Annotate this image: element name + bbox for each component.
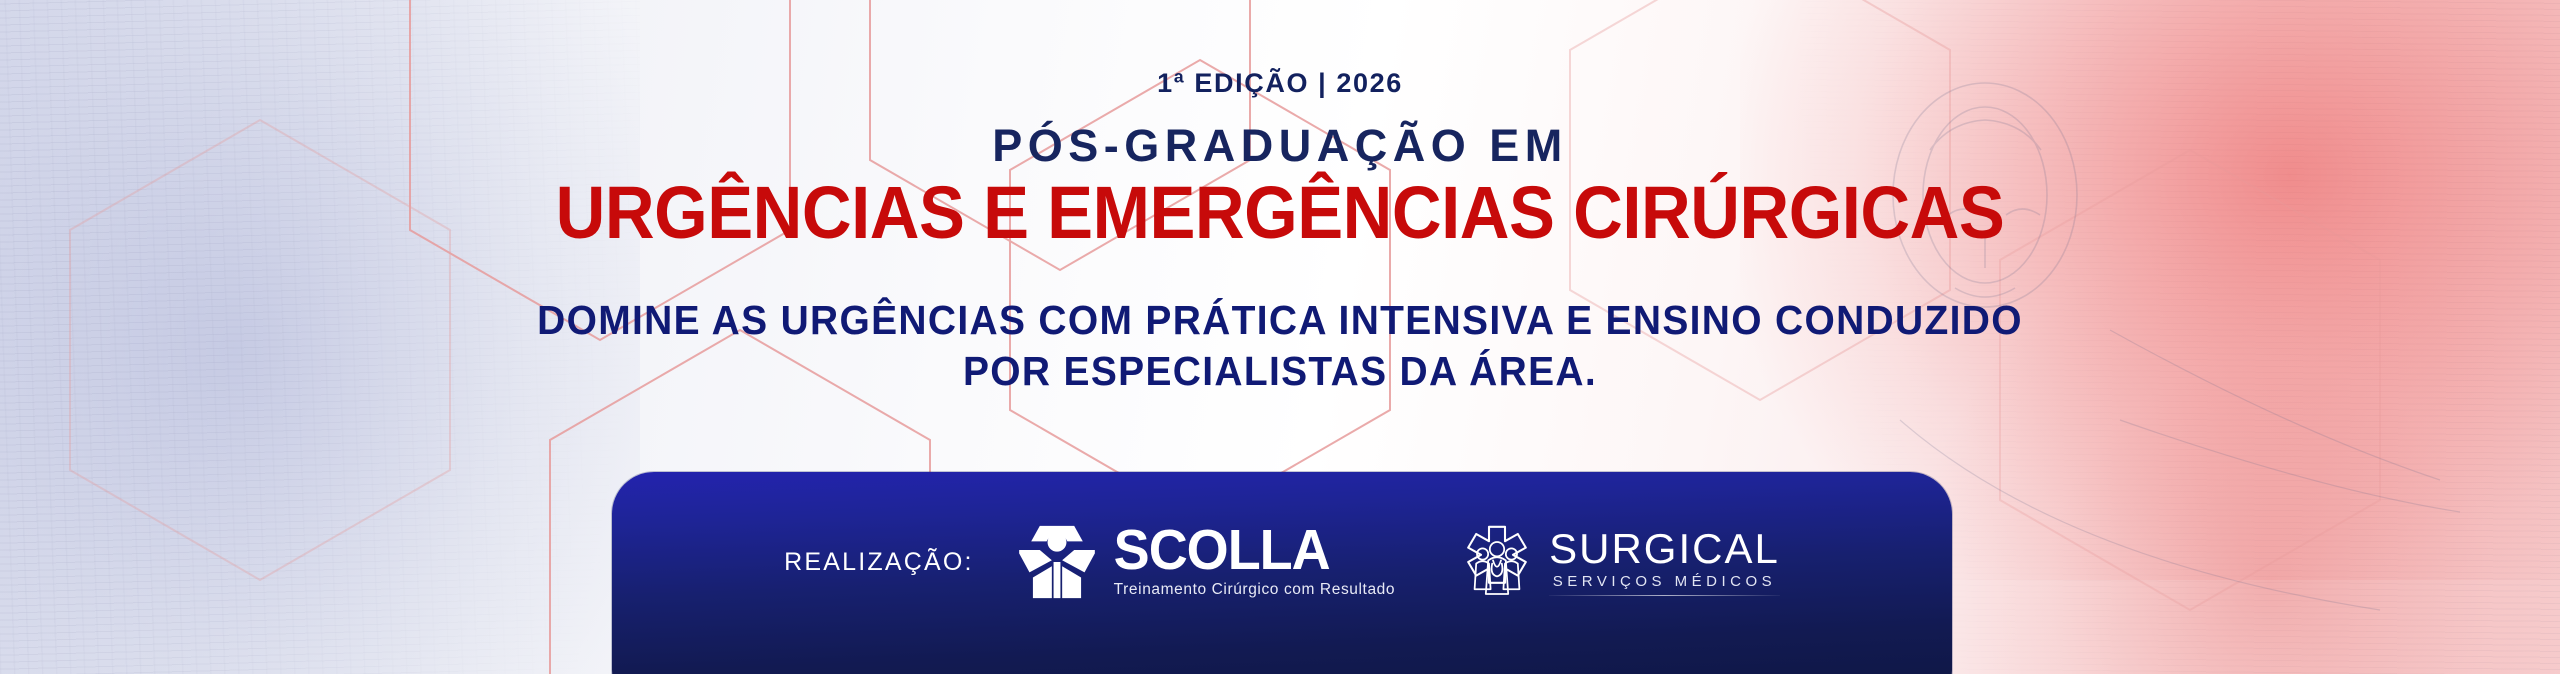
scolla-wordmark: SCOLLA	[1114, 524, 1330, 578]
subtitle-line-2: POR ESPECIALISTAS DA ÁREA.	[64, 346, 2496, 397]
sponsors-row: REALIZAÇÃO: SCOLLA Treina	[612, 514, 1952, 610]
scolla-logo[interactable]: SCOLLA Treinamento Cirúrgico com Resulta…	[1014, 519, 1395, 605]
realizacao-label: REALIZAÇÃO:	[784, 548, 974, 577]
surgical-underline-rule	[1549, 595, 1780, 596]
surgical-wordblock: SURGICAL SERVIÇOS MÉDICOS	[1549, 528, 1780, 596]
surgical-wordmark: SURGICAL	[1549, 528, 1780, 570]
scolla-tagline: Treinamento Cirúrgico com Resultado	[1114, 581, 1395, 599]
program-headline: URGÊNCIAS E EMERGÊNCIAS CIRÚRGICAS	[90, 170, 2471, 255]
surgical-logo[interactable]: SURGICAL SERVIÇOS MÉDICOS	[1457, 522, 1780, 602]
surgical-tagline: SERVIÇOS MÉDICOS	[1553, 573, 1776, 590]
star-of-life-medical-team-icon	[1457, 522, 1537, 602]
program-subtitle: DOMINE AS URGÊNCIAS COM PRÁTICA INTENSIV…	[64, 295, 2496, 397]
subtitle-line-1: DOMINE AS URGÊNCIAS COM PRÁTICA INTENSIV…	[64, 295, 2496, 346]
edition-label: 1ª EDIÇÃO | 2026	[0, 68, 2560, 99]
program-kicker: PÓS-GRADUAÇÃO EM	[0, 120, 2560, 172]
sponsors-panel: REALIZAÇÃO: SCOLLA Treina	[612, 472, 1952, 674]
scolla-hex-figure-icon	[1014, 519, 1100, 605]
scolla-wordblock: SCOLLA Treinamento Cirúrgico com Resulta…	[1114, 525, 1395, 598]
course-promo-banner: 1ª EDIÇÃO | 2026 PÓS-GRADUAÇÃO EM URGÊNC…	[0, 0, 2560, 674]
